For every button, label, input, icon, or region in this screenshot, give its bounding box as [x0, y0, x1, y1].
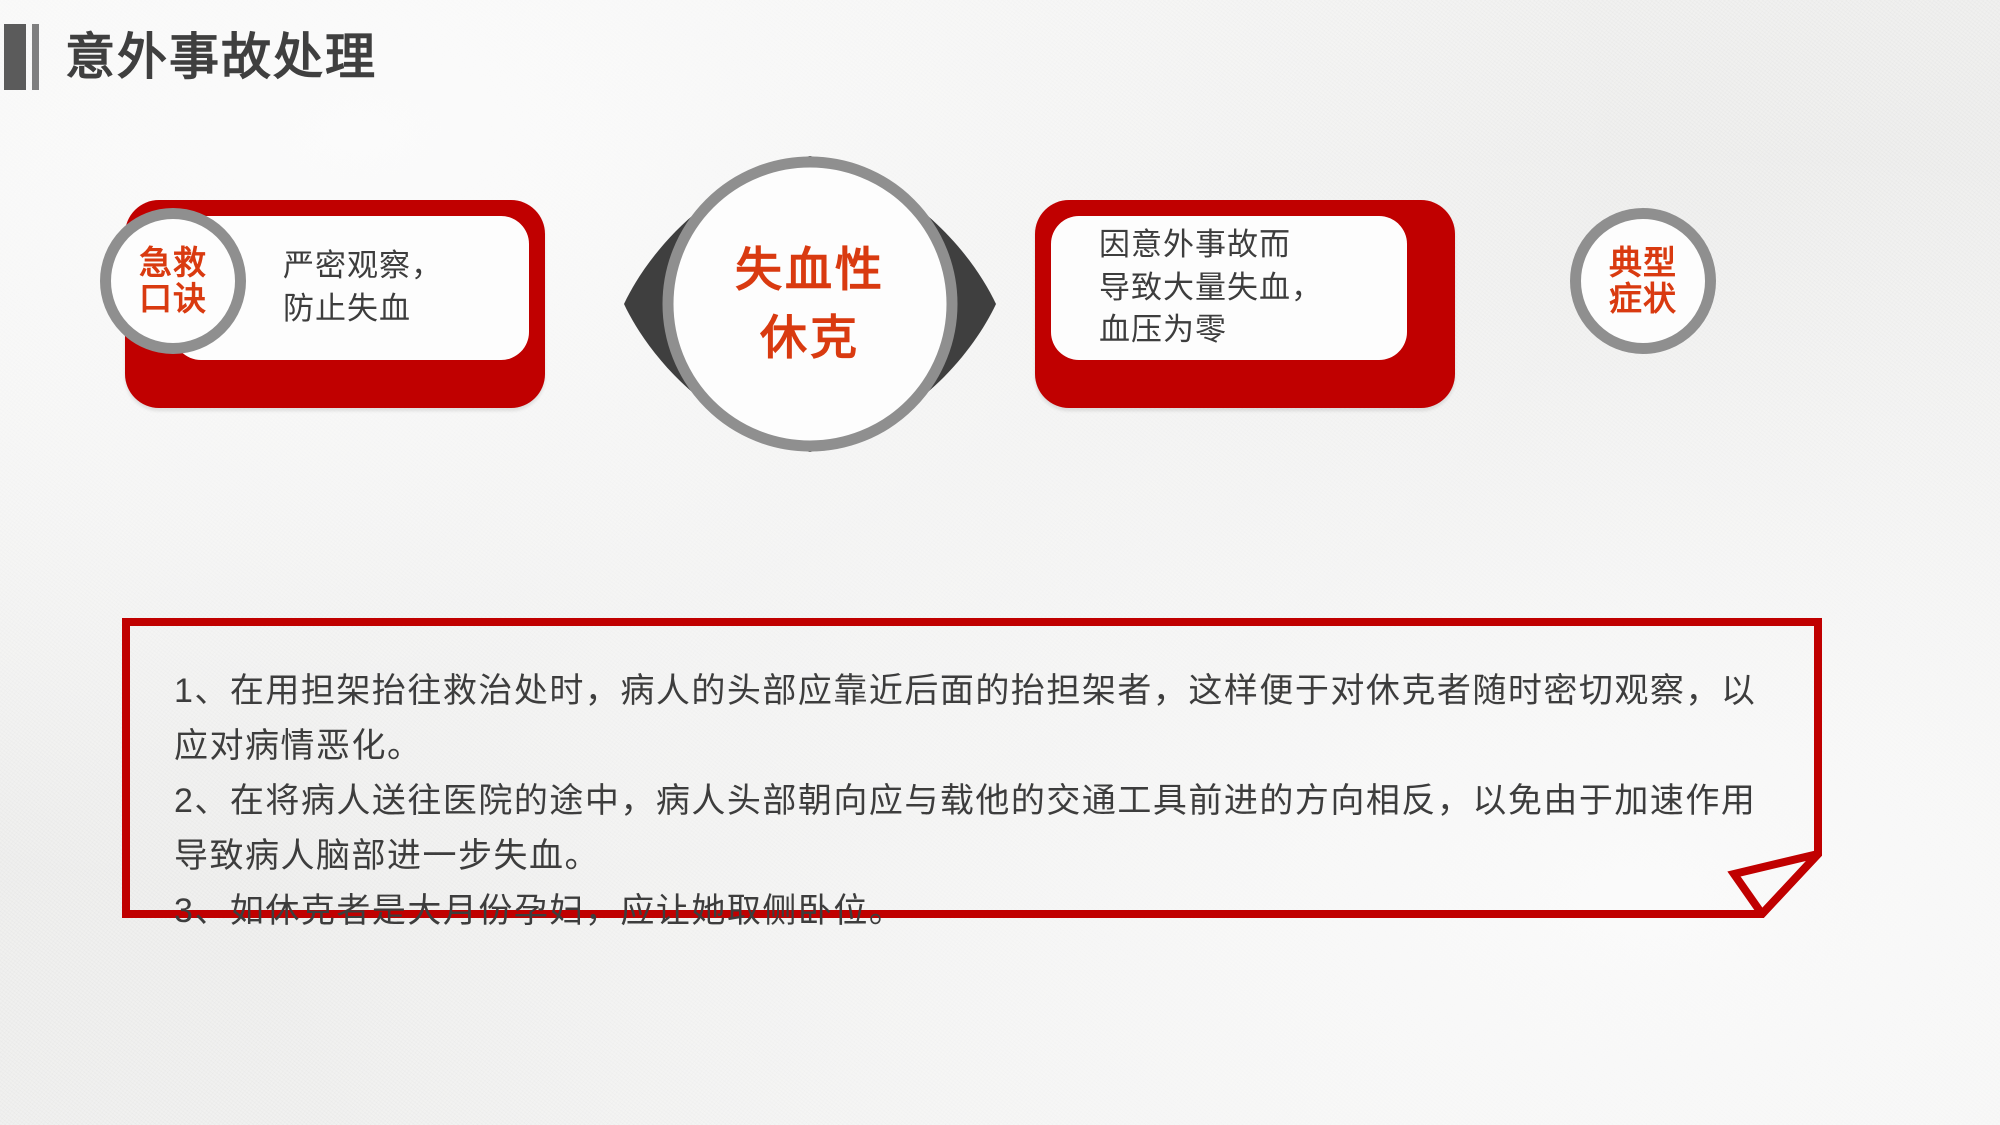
note-box-text: 1、在用担架抬往救治处时，病人的头部应靠近后面的抬担架者，这样便于对休克者随时密… — [174, 664, 1762, 939]
card-symptoms-inner: 因意外事故而 导致大量失血， 血压为零 — [1051, 216, 1407, 360]
badge-symptoms: 典型 症状 — [1570, 208, 1716, 354]
centre-emblem: 失血性 休克 — [620, 148, 1000, 460]
card-first-aid-text: 严密观察， 防止失血 — [283, 245, 443, 331]
card-symptoms-text: 因意外事故而 导致大量失血， 血压为零 — [1099, 224, 1323, 352]
centre-circle-icon — [668, 162, 952, 446]
header-accent-bar-thin — [32, 24, 39, 90]
badge-symptoms-label: 典型 症状 — [1609, 245, 1677, 316]
page-header: 意外事故处理 — [0, 22, 377, 92]
page-title: 意外事故处理 — [65, 32, 377, 82]
slide-canvas: 意外事故处理 严密观察， 防止失血 急救 口诀 因意外事故而 导致大量失血， 血… — [0, 0, 2000, 1125]
header-accent-bar-thick — [4, 24, 26, 90]
card-symptoms: 因意外事故而 导致大量失血， 血压为零 — [1035, 200, 1455, 408]
note-box: 1、在用担架抬往救治处时，病人的头部应靠近后面的抬担架者，这样便于对休克者随时密… — [122, 618, 1822, 918]
centre-emblem-graphic — [620, 148, 1000, 460]
badge-first-aid-label: 急救 口诀 — [139, 245, 207, 316]
badge-first-aid: 急救 口诀 — [100, 208, 246, 354]
